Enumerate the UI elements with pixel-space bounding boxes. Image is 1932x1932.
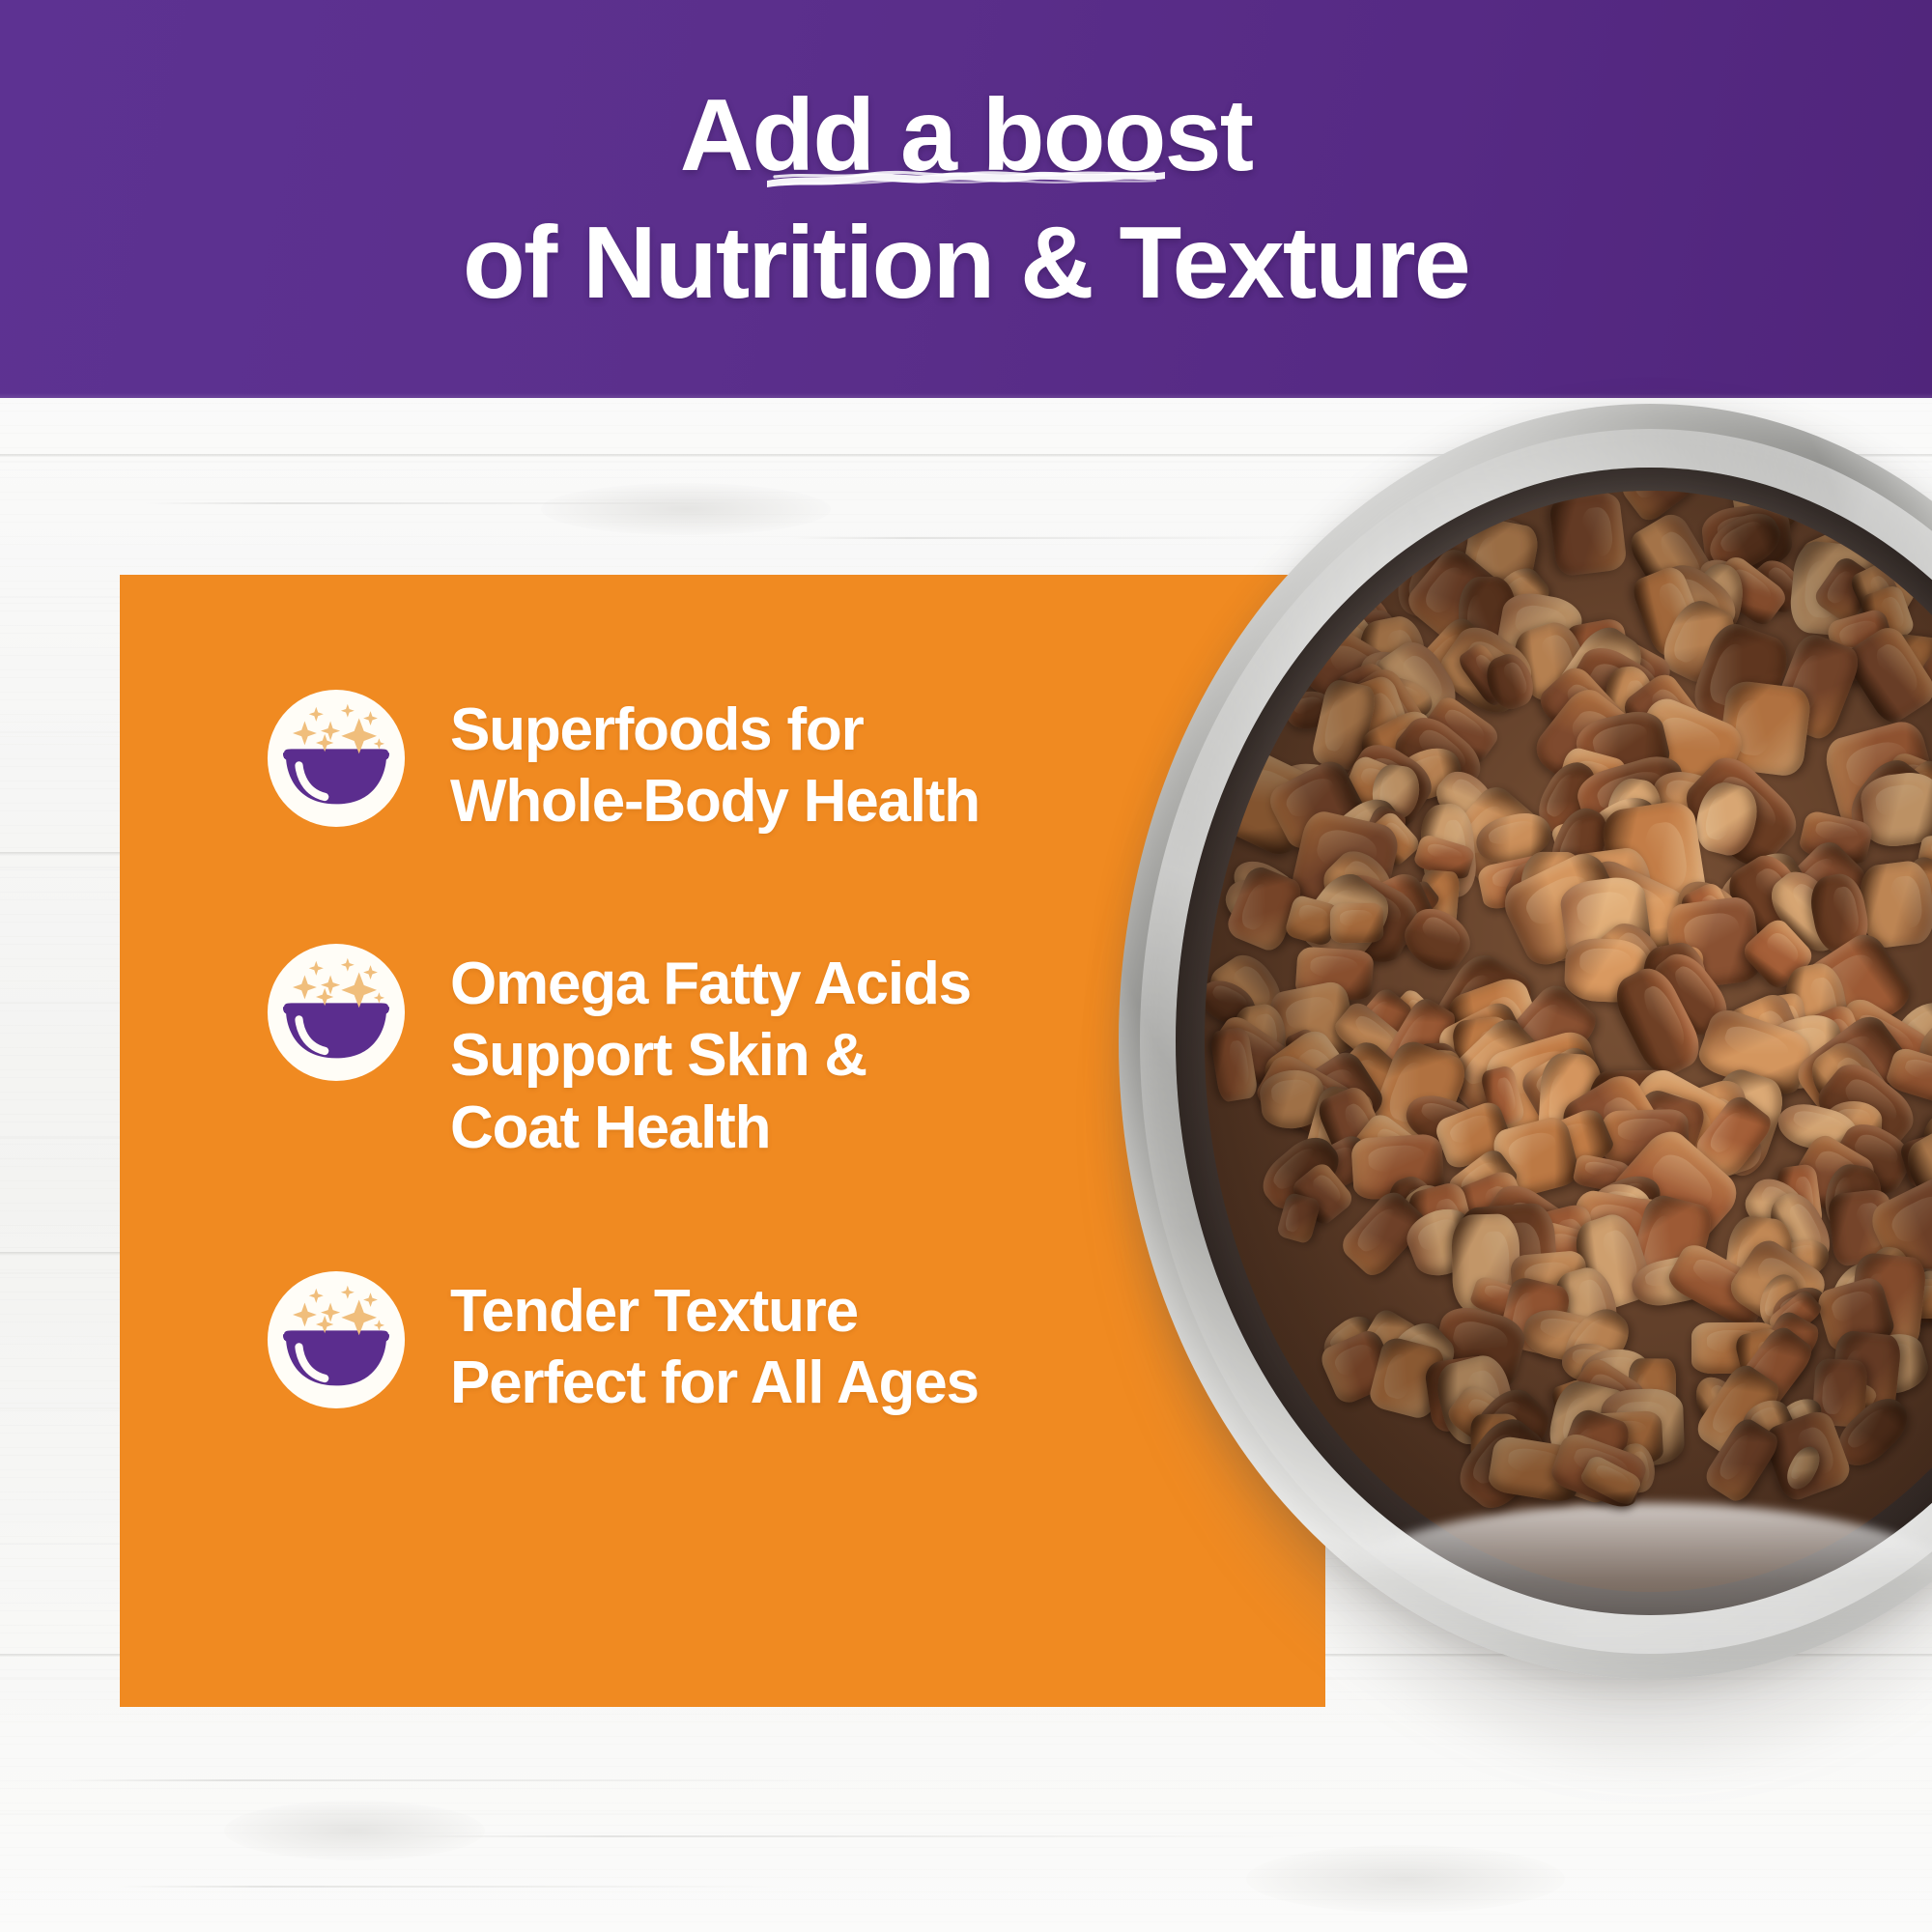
headline-block: Add a boost of Nutrition & Texture [0,0,1932,398]
benefit-item: Omega Fatty Acids Support Skin & Coat He… [265,941,1325,1164]
wood-streak [116,1886,792,1888]
benefit-text-line: Tender Texture [450,1276,979,1348]
wood-streak [406,1835,1314,1837]
benefit-text-line: Perfect for All Ages [450,1348,979,1419]
benefit-item: Tender Texture Perfect for All Ages [265,1268,1325,1420]
wood-knot [1246,1845,1565,1913]
wood-knot [224,1801,485,1861]
header-band: Add a boost of Nutrition & Texture [0,0,1932,398]
wood-streak [58,1779,831,1781]
headline-line-1: Add a boost [680,81,1253,189]
sparkling-bowl-icon [265,941,408,1084]
benefit-text-line: Whole-Body Health [450,766,980,838]
headline-line-2: of Nutrition & Texture [463,209,1469,317]
kibble-piece [1330,903,1383,944]
kibble-piece [1548,491,1628,578]
sparkling-bowl-icon-glyph [265,687,408,830]
benefit-text: Superfoods for Whole-Body Health [450,687,980,838]
sparkling-bowl-icon-glyph [265,1268,408,1411]
sparkling-bowl-icon [265,1268,408,1411]
benefits-list: Superfoods for Whole-Body Health [120,575,1325,1707]
benefit-text-line: Coat Health [450,1093,971,1164]
benefit-text-line: Omega Fatty Acids [450,949,971,1020]
benefit-text-line: Superfoods for [450,695,980,766]
benefit-item: Superfoods for Whole-Body Health [265,687,1325,838]
wood-knot [541,483,831,535]
benefit-text: Tender Texture Perfect for All Ages [450,1268,979,1420]
benefit-text: Omega Fatty Acids Support Skin & Coat He… [450,941,971,1164]
sparkling-bowl-icon [265,687,408,830]
benefit-text-line: Support Skin & [450,1020,971,1092]
promo-banner: Add a boost of Nutrition & Texture [0,0,1932,1932]
sparkling-bowl-icon-glyph [265,941,408,1084]
wood-streak [145,502,744,504]
